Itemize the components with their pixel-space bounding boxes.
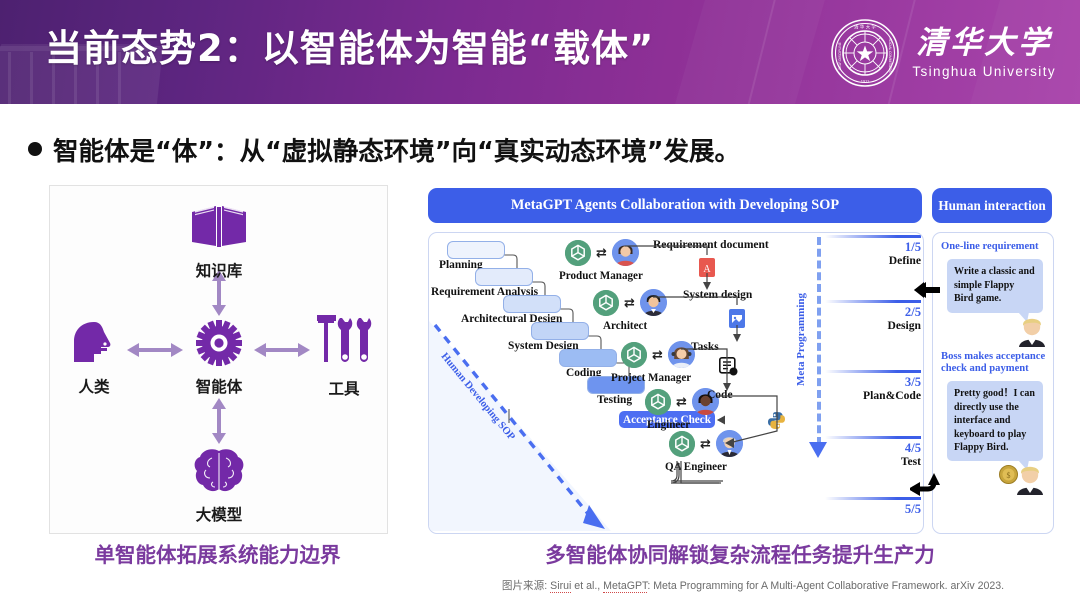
slide-header: 当前态势2：以智能体为智能“载体” 清 华 大 学 — [0, 0, 1080, 104]
tools-icon — [314, 312, 374, 373]
meta-programming-axis — [817, 237, 821, 445]
bullet-marker-icon — [28, 142, 42, 156]
phase-number: 2/5 — [825, 305, 921, 319]
single-agent-diagram: 知识库 — [49, 185, 388, 534]
tsinghua-seal-icon: 清 华 大 学 1911 SELF-DISCIPLINE SOCIAL COMM… — [830, 18, 900, 88]
svg-text:1911: 1911 — [861, 79, 870, 84]
node-agent: 智能体 — [174, 320, 264, 397]
human-interaction-body: One-line requirement Write a classic and… — [932, 232, 1054, 534]
metagpt-banner: MetaGPT Agents Collaboration with Develo… — [428, 188, 922, 223]
citation-mid: et al., — [571, 580, 603, 592]
phase-bar — [825, 436, 921, 439]
human-to-define-arrow — [914, 280, 940, 300]
node-llm: 大模型 — [177, 448, 261, 525]
boss-avatar-coin-icon — [1015, 463, 1045, 500]
node-label: 工具 — [328, 377, 359, 399]
phase-3: 3/5 Plan&Code — [825, 370, 921, 402]
phase-5: 5/5 — [825, 497, 921, 516]
requirement-bubble: Write a classic and simple Flappy Bird g… — [947, 259, 1043, 313]
node-label: 大模型 — [196, 503, 243, 525]
brain-icon — [192, 448, 246, 499]
caption-right: 多智能体协同解锁复杂流程任务提升生产力 — [428, 538, 1052, 568]
book-icon — [190, 202, 248, 255]
slide-root: 当前态势2：以智能体为智能“载体” 清 华 大 学 — [0, 0, 1080, 606]
phase-name: Test — [825, 455, 921, 468]
one-line-requirement-title: One-line requirement — [941, 241, 1049, 253]
phase-number: 4/5 — [825, 441, 921, 455]
boss-acceptance-title: Boss makes acceptance check and payment — [941, 351, 1049, 375]
acceptance-to-human-arrow — [910, 473, 940, 497]
phase-1: 1/5 Define — [825, 235, 921, 267]
node-label: 人类 — [78, 375, 109, 397]
header-decor-line — [8, 52, 11, 104]
svg-text:SOCIAL COMMITMENT: SOCIAL COMMITMENT — [888, 38, 892, 74]
caption-left: 单智能体拓展系统能力边界 — [49, 538, 386, 568]
bullet-text: 智能体是“体”：从“虚拟静态环境”向“真实动态环境”发展。 — [53, 131, 740, 168]
phase-number: 1/5 — [825, 240, 921, 254]
citation-line: 图片来源: Sirui et al., MetaGPT: Meta Progra… — [438, 578, 1068, 593]
svg-text:SELF-DISCIPLINE: SELF-DISCIPLINE — [838, 41, 842, 69]
svg-text:清 华 大 学: 清 华 大 学 — [854, 24, 876, 31]
tsinghua-logo: 清 华 大 学 1911 SELF-DISCIPLINE SOCIAL COMM… — [830, 17, 1056, 89]
node-human: 人类 — [55, 320, 133, 397]
page-title: 当前态势2：以智能体为智能“载体” — [45, 23, 654, 75]
phase-name: Plan&Code — [825, 389, 921, 402]
phase-bar — [825, 497, 921, 500]
logo-wordmark: 清华大学 Tsinghua University — [912, 28, 1056, 79]
node-knowledge-base: 知识库 — [168, 202, 270, 281]
phase-bar — [825, 370, 921, 373]
phase-2: 2/5 Design — [825, 300, 921, 332]
meta-programming-label: Meta Programming — [795, 293, 807, 386]
arrow-center-bottom — [211, 398, 227, 444]
metagpt-figure: MetaGPT Agents Collaboration with Develo… — [428, 188, 1052, 532]
human-head-icon — [70, 320, 118, 371]
phase-4: 4/5 Test — [825, 436, 921, 468]
node-label: 智能体 — [196, 375, 243, 397]
phase-number: 3/5 — [825, 375, 921, 389]
node-label: 知识库 — [196, 259, 243, 281]
metagpt-figure-body: Human Developing SOP Plannin — [428, 232, 924, 534]
phase-name: Define — [825, 254, 921, 267]
human-interaction-banner: Human interaction — [932, 188, 1052, 223]
phase-number: 5/5 — [825, 502, 921, 516]
gear-icon — [196, 320, 242, 371]
citation-rest: : Meta Programming for A Multi-Agent Col… — [647, 580, 1004, 592]
phase-name: Design — [825, 319, 921, 332]
bullet-line: 智能体是“体”：从“虚拟静态环境”向“真实动态环境”发展。 — [28, 127, 1058, 171]
boss-feedback-bubble: Pretty good！I can directly use the inter… — [947, 381, 1043, 461]
logo-name-cn: 清华大学 — [916, 28, 1052, 59]
citation-project: MetaGPT — [603, 580, 647, 593]
logo-name-en: Tsinghua University — [912, 65, 1056, 79]
citation-prefix: 图片来源: — [502, 580, 547, 592]
svg-text:$: $ — [1007, 471, 1011, 480]
phase-bar — [825, 300, 921, 303]
citation-author: Sirui — [550, 580, 571, 593]
header-building-decor — [675, 0, 825, 104]
header-decor-line — [30, 52, 33, 104]
boss-avatar-icon — [1017, 315, 1047, 352]
phase-bar — [825, 235, 921, 238]
node-tools: 工具 — [305, 312, 383, 399]
